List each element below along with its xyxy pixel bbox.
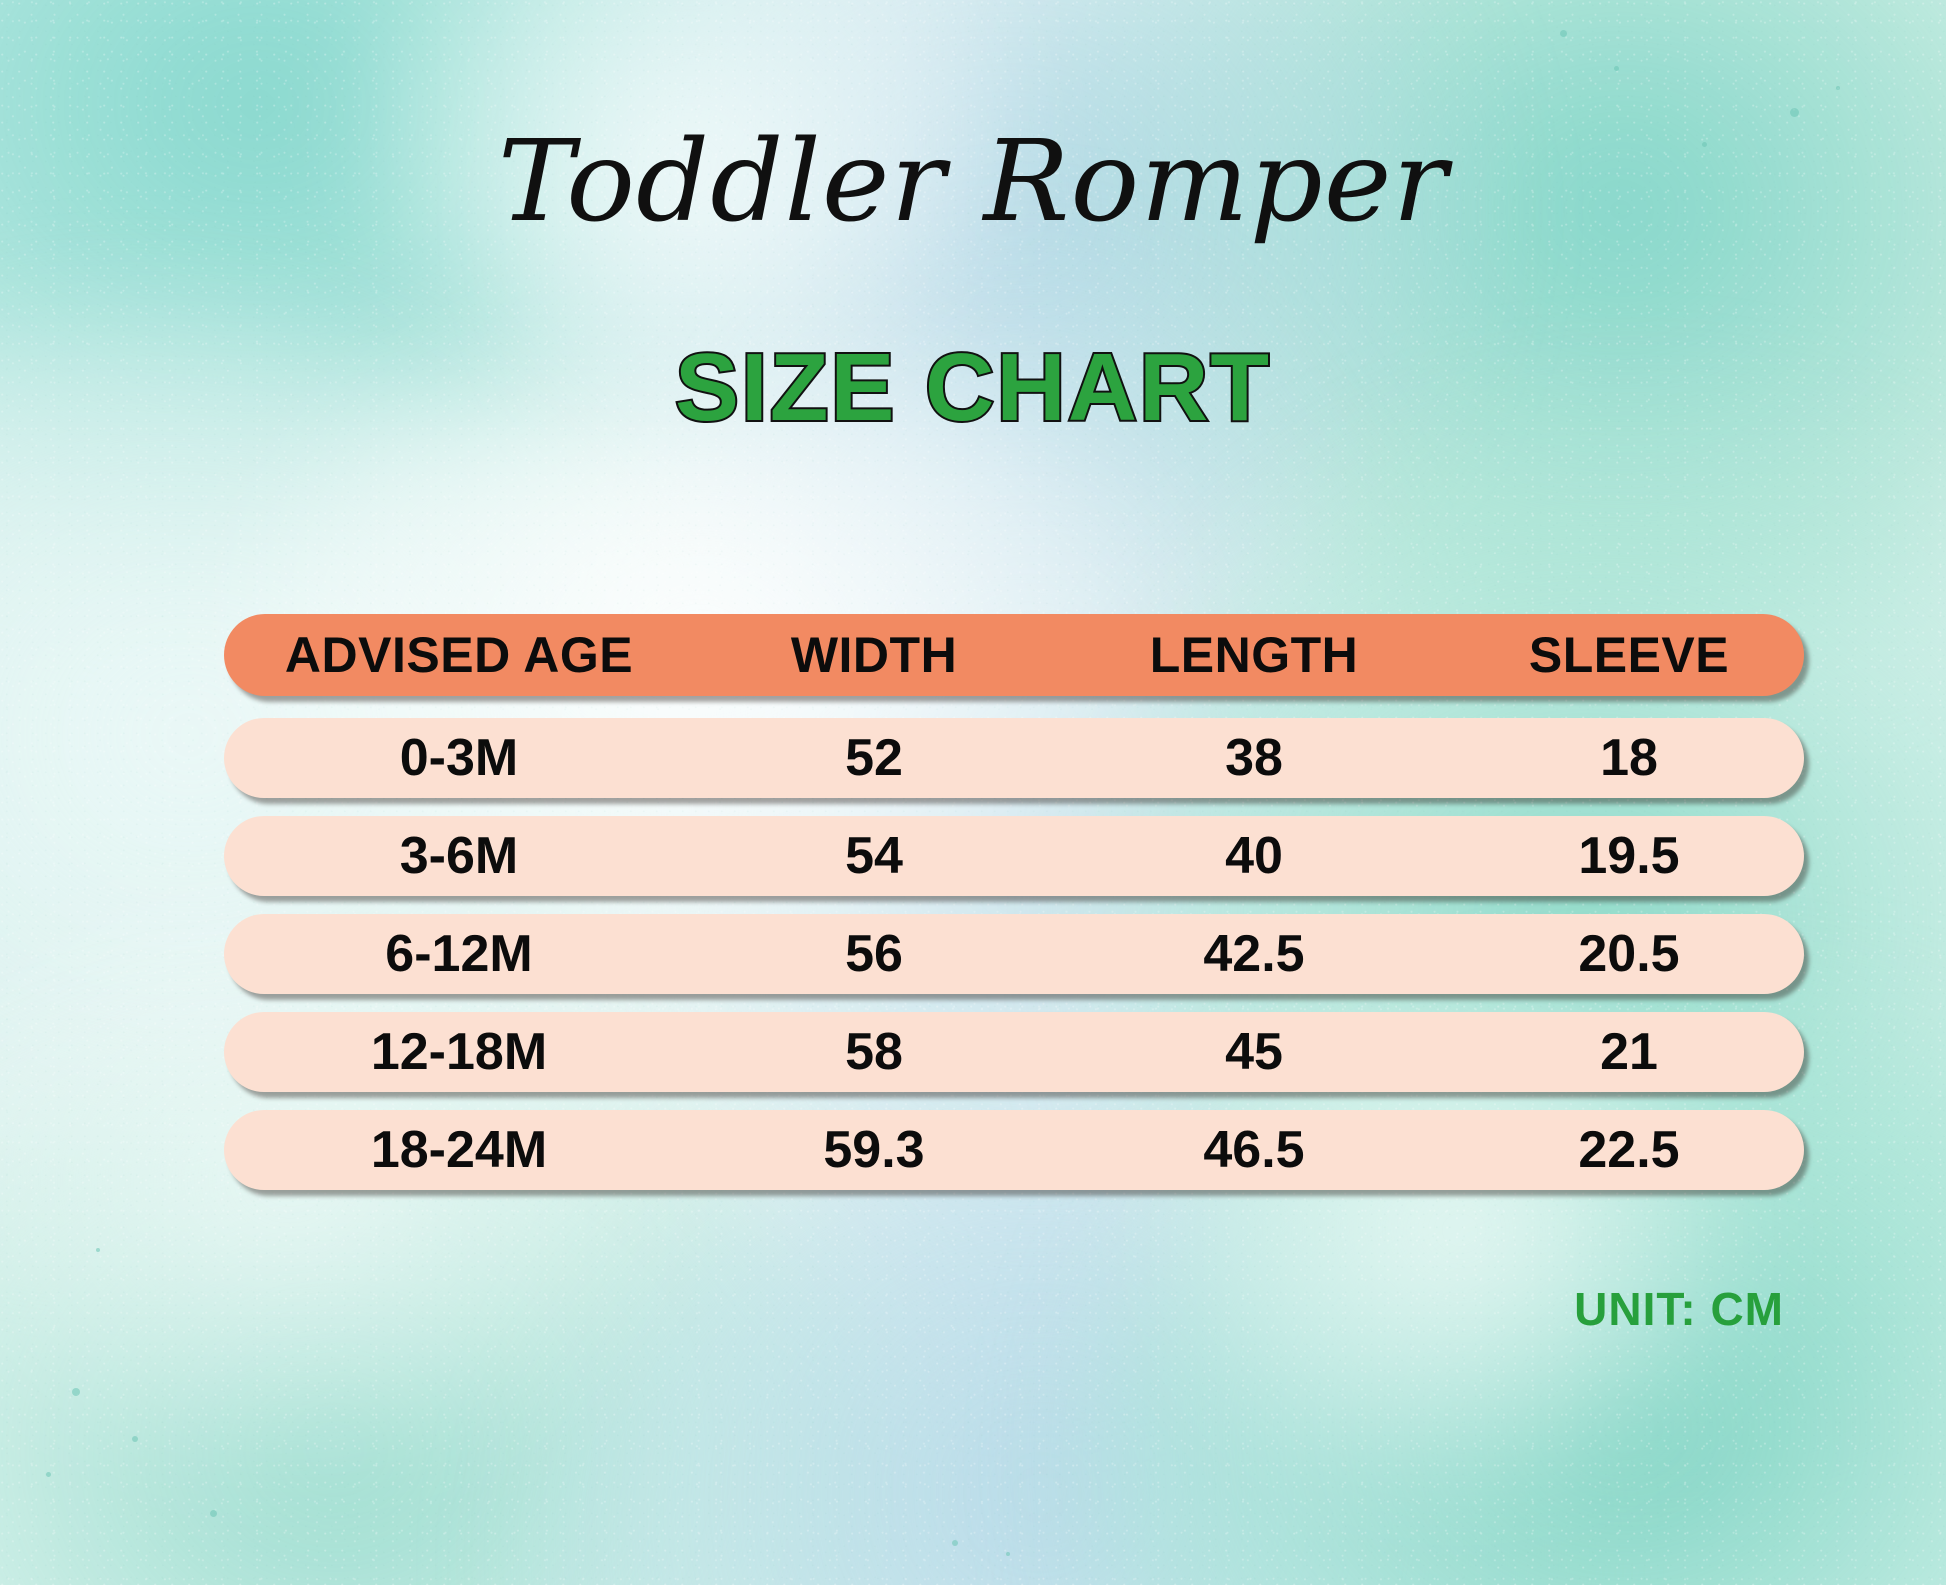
table-row: 0-3M 52 38 18 <box>224 718 1804 798</box>
size-chart-page: Toddler Romper SIZE CHART ADVISED AGE WI… <box>0 0 1946 1585</box>
table-header-row: ADVISED AGE WIDTH LENGTH SLEEVE <box>224 614 1804 696</box>
table-row: 12-18M 58 45 21 <box>224 1012 1804 1092</box>
column-header-advised-age: ADVISED AGE <box>224 630 694 680</box>
cell-advised-age: 18-24M <box>224 1124 694 1176</box>
cell-length: 46.5 <box>1054 1124 1454 1176</box>
cell-width: 52 <box>694 732 1054 784</box>
cell-sleeve: 18 <box>1454 732 1804 784</box>
table-row: 6-12M 56 42.5 20.5 <box>224 914 1804 994</box>
cell-width: 59.3 <box>694 1124 1054 1176</box>
table-row: 18-24M 59.3 46.5 22.5 <box>224 1110 1804 1190</box>
cell-sleeve: 20.5 <box>1454 928 1804 980</box>
size-chart-table: ADVISED AGE WIDTH LENGTH SLEEVE 0-3M 52 … <box>224 614 1804 1208</box>
cell-advised-age: 3-6M <box>224 830 694 882</box>
cell-length: 40 <box>1054 830 1454 882</box>
column-header-length: LENGTH <box>1054 630 1454 680</box>
unit-note: UNIT: CM <box>1574 1282 1784 1336</box>
cell-width: 56 <box>694 928 1054 980</box>
cell-length: 45 <box>1054 1026 1454 1078</box>
cell-sleeve: 19.5 <box>1454 830 1804 882</box>
page-title: Toddler Romper <box>0 124 1946 242</box>
cell-sleeve: 21 <box>1454 1026 1804 1078</box>
cell-advised-age: 12-18M <box>224 1026 694 1078</box>
table-row: 3-6M 54 40 19.5 <box>224 816 1804 896</box>
cell-length: 42.5 <box>1054 928 1454 980</box>
cell-width: 54 <box>694 830 1054 882</box>
cell-advised-age: 0-3M <box>224 732 694 784</box>
cell-width: 58 <box>694 1026 1054 1078</box>
column-header-width: WIDTH <box>694 630 1054 680</box>
cell-length: 38 <box>1054 732 1454 784</box>
page-subtitle: SIZE CHART <box>0 340 1946 436</box>
cell-sleeve: 22.5 <box>1454 1124 1804 1176</box>
cell-advised-age: 6-12M <box>224 928 694 980</box>
column-header-sleeve: SLEEVE <box>1454 630 1804 680</box>
